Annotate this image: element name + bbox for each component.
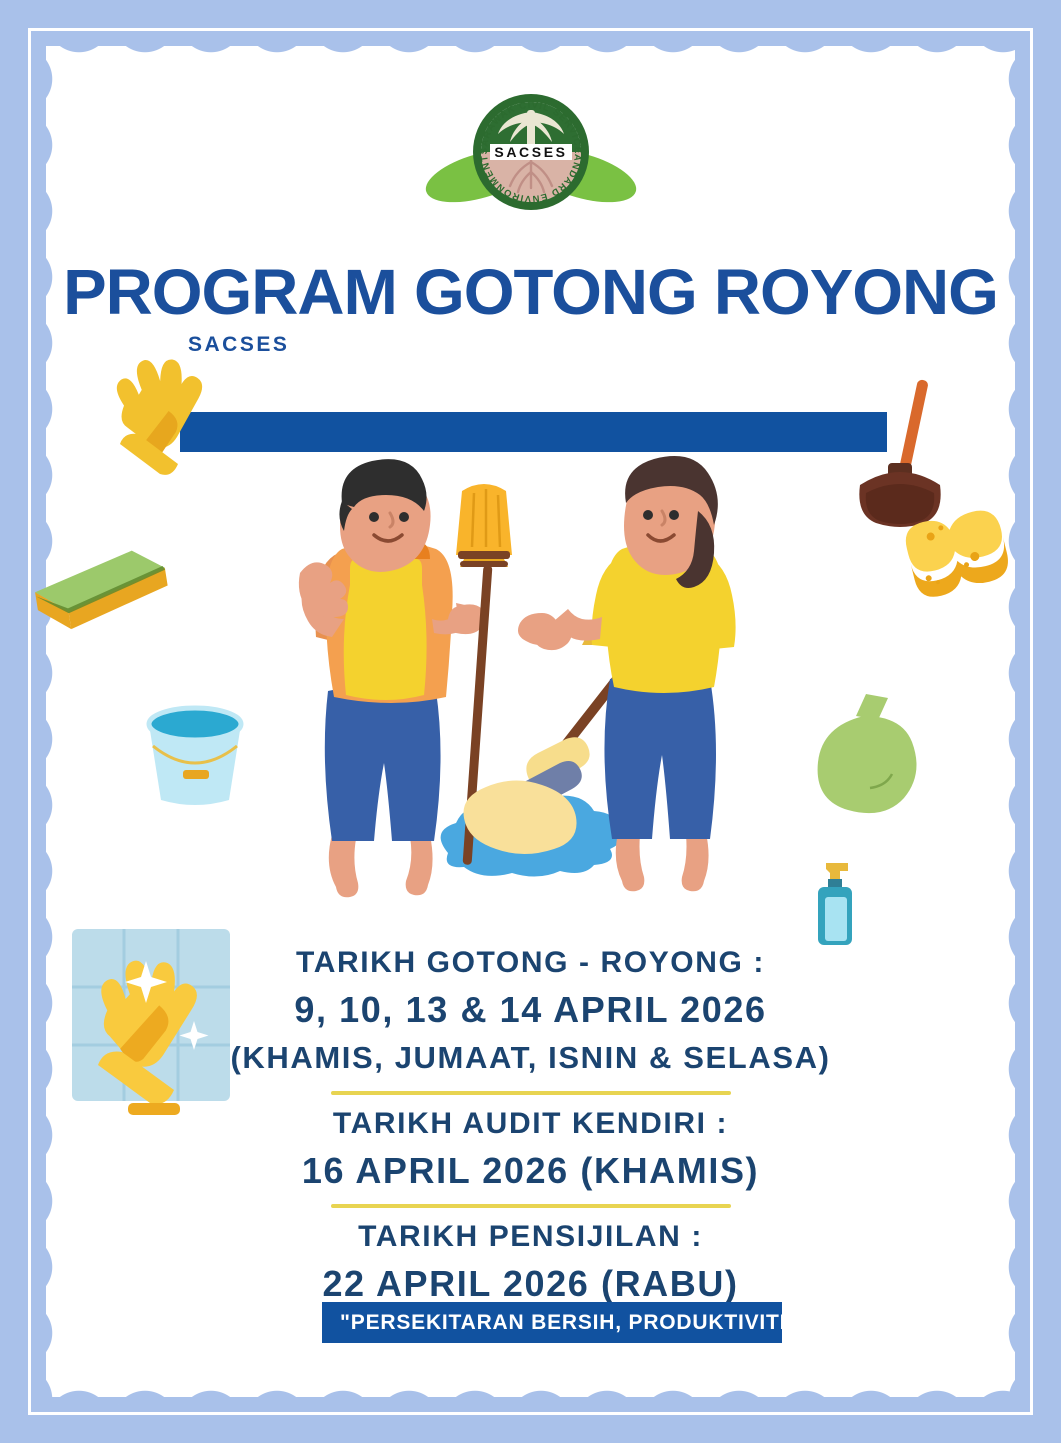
dates-block: TARIKH GOTONG - ROYONG : 9, 10, 13 & 14 … [0, 940, 1061, 1308]
sacses-logo: SACSES SARAWAK CIVIL SERVICE STANDARD EN… [406, 92, 656, 222]
date-heading-3: TARIKH PENSIJILAN : [0, 1214, 1061, 1260]
date-value-3: 22 APRIL 2026 (RABU) [0, 1260, 1061, 1308]
bucket-icon [135, 700, 255, 814]
page-title: PROGRAM GOTONG ROYONG [0, 255, 1061, 329]
divider-2 [331, 1204, 731, 1208]
logo-center-text: SACSES [494, 144, 567, 160]
slogan-banner: "PERSEKITARAN BERSIH, PRODUKTIVITI MENIN… [322, 1302, 782, 1343]
green-sponge-icon [26, 548, 176, 642]
yellow-sponge-icon [890, 500, 1030, 614]
date-value-1: 9, 10, 13 & 14 APRIL 2026 [0, 986, 1061, 1034]
page-subtitle: SACSES [188, 333, 289, 357]
date-heading-1: TARIKH GOTONG - ROYONG : [0, 940, 1061, 986]
blue-banner-bar [180, 412, 887, 452]
date-days-1: (KHAMIS, JUMAAT, ISNIN & SELASA) [0, 1034, 1061, 1082]
poster-canvas: SACSES SARAWAK CIVIL SERVICE STANDARD EN… [0, 0, 1061, 1443]
divider-1 [331, 1091, 731, 1095]
date-value-2: 16 APRIL 2026 (KHAMIS) [0, 1147, 1061, 1195]
date-heading-2: TARIKH AUDIT KENDIRI : [0, 1101, 1061, 1147]
slogan-text: "PERSEKITARAN BERSIH, PRODUKTIVITI MENIN… [340, 1311, 782, 1335]
rubber-gloves-top-left-icon [92, 358, 222, 482]
cleaning-illustration [270, 455, 800, 919]
trash-bag-icon [812, 690, 927, 819]
